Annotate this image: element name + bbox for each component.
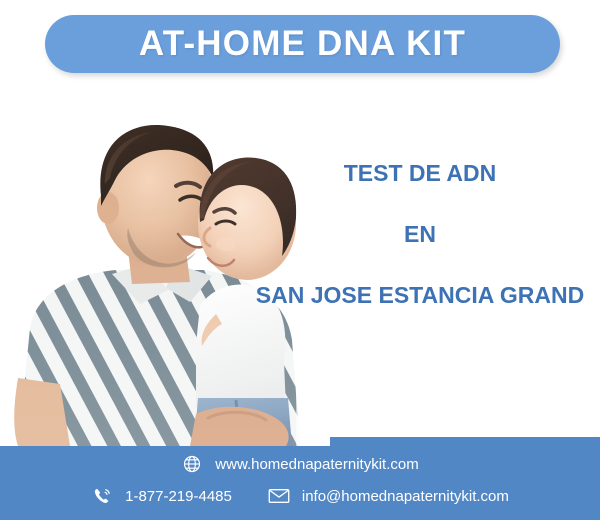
email-label: info@homednapaternitykit.com bbox=[302, 488, 509, 505]
poster-title: AT-HOME DNA KIT bbox=[139, 24, 466, 64]
footer-row-website: www.homednapaternitykit.com bbox=[0, 453, 600, 475]
info-column: TEST DE ADN EN SAN JOSE ESTANCIA GRAND bbox=[240, 160, 600, 309]
info-line-service: TEST DE ADN bbox=[240, 160, 600, 187]
info-line-connector: EN bbox=[240, 221, 600, 248]
email-item[interactable]: info@homednapaternitykit.com bbox=[268, 485, 509, 507]
envelope-icon bbox=[268, 485, 290, 507]
poster-canvas: AT-HOME DNA KIT bbox=[0, 0, 600, 520]
title-banner: AT-HOME DNA KIT bbox=[45, 15, 560, 73]
phone-icon bbox=[91, 485, 113, 507]
website-label: www.homednapaternitykit.com bbox=[215, 456, 418, 473]
globe-icon bbox=[181, 453, 203, 475]
phone-item[interactable]: 1-877-219-4485 bbox=[91, 485, 232, 507]
contact-footer: www.homednapaternitykit.com 1-877-219-44… bbox=[0, 437, 600, 520]
website-item[interactable]: www.homednapaternitykit.com bbox=[181, 453, 418, 475]
footer-row-phone-email: 1-877-219-4485 info@homednapaternitykit.… bbox=[0, 485, 600, 507]
phone-label: 1-877-219-4485 bbox=[125, 488, 232, 505]
info-line-location: SAN JOSE ESTANCIA GRAND bbox=[240, 282, 600, 309]
